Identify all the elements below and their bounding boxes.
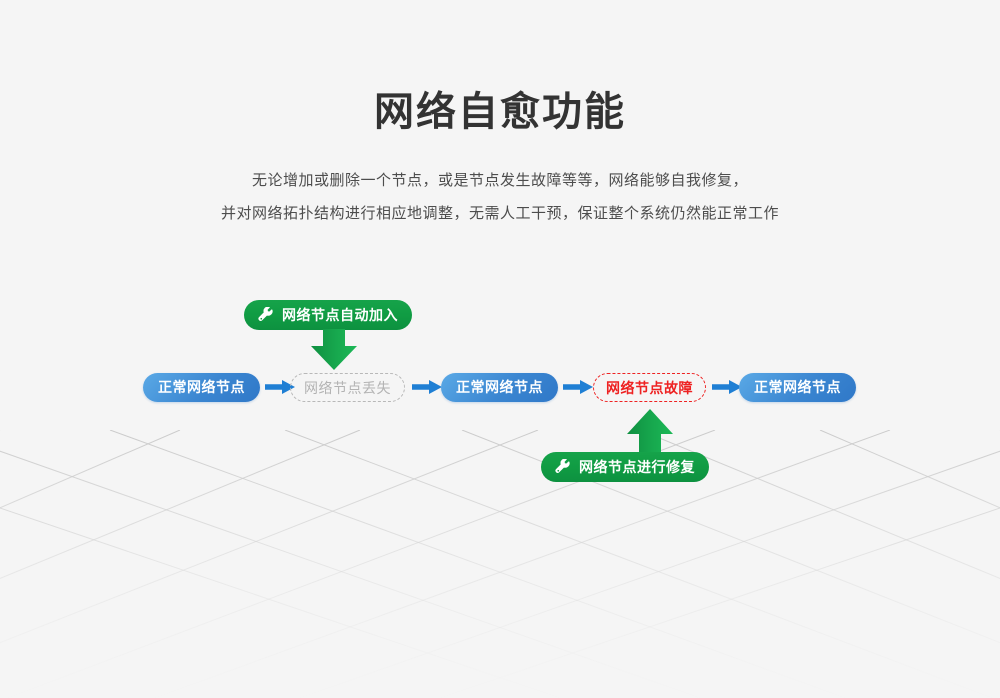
- green-down-arrow: [306, 329, 362, 376]
- flow-arrow-3: [563, 380, 593, 394]
- badge-node-repair-label: 网络节点进行修复: [579, 457, 695, 477]
- page-header: 网络自愈功能 无论增加或删除一个节点，或是节点发生故障等等，网络能够自我修复， …: [0, 0, 1000, 230]
- node-lost-label: 网络节点丢失: [304, 380, 391, 396]
- node-normal-3-label: 正常网络节点: [754, 379, 841, 395]
- page-subtitle: 无论增加或删除一个节点，或是节点发生故障等等，网络能够自我修复， 并对网络拓扑结…: [0, 164, 1000, 230]
- node-normal-2[interactable]: 正常网络节点: [441, 373, 558, 402]
- badge-node-auto-join[interactable]: 网络节点自动加入: [244, 300, 412, 330]
- node-normal-1-label: 正常网络节点: [158, 379, 245, 395]
- flow-arrow-2: [412, 380, 442, 394]
- flow-arrow-4: [712, 380, 742, 394]
- node-normal-1[interactable]: 正常网络节点: [143, 373, 260, 402]
- page-title: 网络自愈功能: [0, 88, 1000, 136]
- node-normal-3[interactable]: 正常网络节点: [739, 373, 856, 402]
- subtitle-line-1: 无论增加或删除一个节点，或是节点发生故障等等，网络能够自我修复，: [0, 164, 1000, 197]
- wrench-icon: [258, 307, 275, 324]
- node-normal-2-label: 正常网络节点: [456, 379, 543, 395]
- node-lost[interactable]: 网络节点丢失: [290, 373, 405, 402]
- wrench-icon: [555, 459, 572, 476]
- node-fault-label: 网络节点故障: [606, 380, 693, 396]
- badge-node-repair[interactable]: 网络节点进行修复: [541, 452, 709, 482]
- node-fault[interactable]: 网络节点故障: [593, 373, 706, 402]
- badge-node-auto-join-label: 网络节点自动加入: [282, 305, 398, 325]
- subtitle-line-2: 并对网络拓扑结构进行相应地调整，无需人工干预，保证整个系统仍然能正常工作: [0, 197, 1000, 230]
